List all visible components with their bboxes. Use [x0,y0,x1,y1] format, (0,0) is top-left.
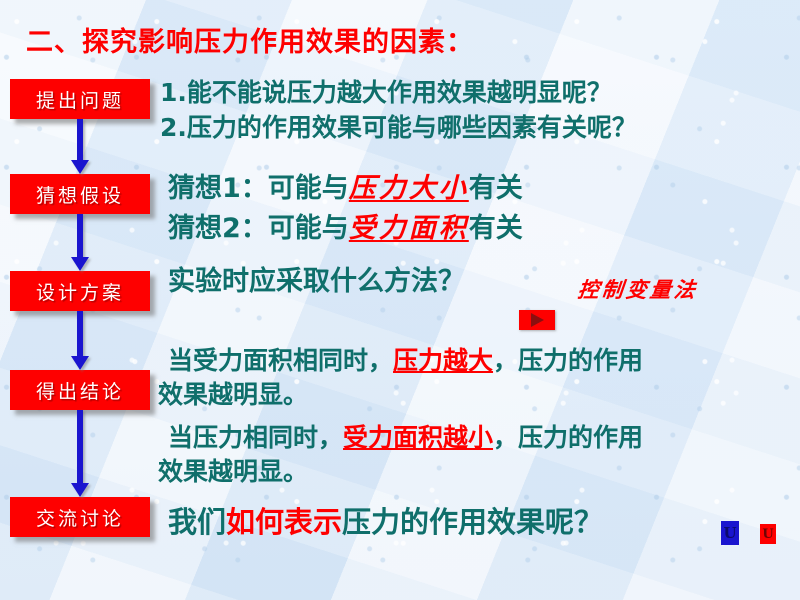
flow-step-design-plan[interactable]: 设计方案 [10,271,150,311]
arrow-shaft [77,311,83,357]
guess-1-suffix: 有关 [469,173,523,204]
plan-answer-control-variable: 控制变量法 [576,274,699,304]
conclusion-line-1: 当受力面积相同时，压力越大，压力的作用 [168,348,643,373]
flow-step-label: 猜想假设 [36,181,124,208]
arrow-head [71,160,89,174]
conclusion-1-prefix: 当受力面积相同时， [168,346,393,375]
flow-step-label: 设计方案 [36,278,124,305]
flow-step-label: 交流讨论 [36,504,124,531]
conclusion-3-emphasis: 受力面积越小 [343,423,493,452]
page-title: 二、探究影响压力作用效果的因素： [26,20,474,59]
arrow-shaft [77,119,83,161]
arrow-shaft [77,214,83,258]
flow-step-label: 提出问题 [36,86,124,113]
arrow-head [71,257,89,271]
magnet-red-icon[interactable]: U [760,524,776,544]
conclusion-line-2: 效果越明显。 [158,382,308,407]
flow-step-conclusion[interactable]: 得出结论 [10,370,150,410]
conclusion-1-emphasis: 压力越大 [393,346,493,375]
guess-1-emphasis: 压力大小 [349,173,469,204]
down-arrow-icon [73,119,87,174]
discussion-question: 我们如何表示压力的作用效果呢？ [168,508,603,537]
guess-2-emphasis: 受力面积 [349,213,469,244]
magnet-blue-icon[interactable]: U [721,521,739,545]
discussion-part-3: 压力的作用效果呢？ [342,505,603,539]
down-arrow-icon [73,214,87,271]
guess-2-prefix: 猜想2：可能与 [168,213,349,244]
conclusion-line-3: 当压力相同时，受力面积越小，压力的作用 [168,425,643,450]
conclusion-3-suffix: ，压力的作用 [493,423,643,452]
arrow-head [71,356,89,370]
play-icon [531,313,544,327]
question-line-2: 2.压力的作用效果可能与哪些因素有关呢？ [160,115,637,140]
conclusion-line-4: 效果越明显。 [158,459,308,484]
down-arrow-icon [73,311,87,370]
down-arrow-icon [73,410,87,497]
question-line-1: 1.能不能说压力越大作用效果越明显呢？ [160,80,612,105]
guess-1-prefix: 猜想1：可能与 [168,173,349,204]
guess-line-1: 猜想1：可能与压力大小有关 [168,175,523,202]
conclusion-1-suffix: ，压力的作用 [493,346,643,375]
play-video-button[interactable] [519,310,555,330]
arrow-head [71,483,89,497]
arrow-shaft [77,410,83,484]
discussion-part-1: 我们 [168,505,226,539]
guess-2-suffix: 有关 [469,213,523,244]
discussion-part-2-emphasis: 如何表示 [226,505,342,539]
guess-line-2: 猜想2：可能与受力面积有关 [168,215,523,242]
flow-step-hypothesis[interactable]: 猜想假设 [10,174,150,214]
flow-step-discussion[interactable]: 交流讨论 [10,497,150,537]
flow-step-propose-question[interactable]: 提出问题 [10,79,150,119]
magnet-red-glyph: U [762,528,773,541]
magnet-blue-glyph: U [723,526,736,541]
slide-canvas: 二、探究影响压力作用效果的因素： 提出问题 猜想假设 设计方案 得出结论 交流讨… [0,0,800,600]
conclusion-3-prefix: 当压力相同时， [168,423,343,452]
flow-step-label: 得出结论 [36,377,124,404]
plan-question: 实验时应采取什么方法？ [168,268,465,295]
